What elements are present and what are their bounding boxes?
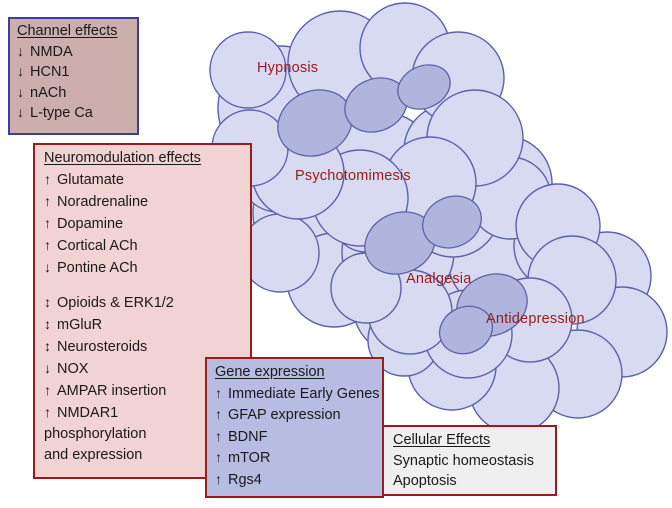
arrow-down-icon: ↓ bbox=[17, 105, 30, 119]
diagram-canvas: Hypnosis Psychotomimesis Analgesia Antid… bbox=[0, 0, 672, 508]
cloud-label-hypnosis: Hypnosis bbox=[257, 60, 318, 76]
arrow-up-icon: ↑ bbox=[215, 450, 228, 464]
list-item-label: Immediate Early Genes bbox=[228, 387, 380, 402]
arrow-up-icon: ↑ bbox=[44, 216, 57, 230]
list-item-label: Dopamine bbox=[57, 217, 123, 232]
arrow-down-icon: ↓ bbox=[44, 260, 57, 274]
list-item: ↑ Rgs4 bbox=[215, 472, 382, 488]
arrow-updown-icon: ↕ bbox=[44, 339, 57, 353]
list-item-label: mTOR bbox=[228, 451, 270, 466]
list-item: ↕ mGluR bbox=[44, 317, 250, 333]
list-item-label: HCN1 bbox=[30, 65, 69, 80]
list-item: ↓ NMDA bbox=[17, 44, 137, 60]
arrow-up-icon: ↑ bbox=[215, 472, 228, 486]
list-item: ↑ Immediate Early Genes bbox=[215, 386, 382, 402]
list-item-label: Opioids & ERK1/2 bbox=[57, 296, 174, 311]
cloud-label-analgesia: Analgesia bbox=[406, 271, 472, 287]
cloud-label-psychotomimesis: Psychotomimesis bbox=[295, 168, 411, 184]
list-item: ↑ Glutamate bbox=[44, 172, 250, 188]
arrow-updown-icon: ↕ bbox=[44, 317, 57, 331]
list-item-label: BDNF bbox=[228, 430, 267, 445]
list-item-label: Glutamate bbox=[57, 173, 124, 188]
arrow-down-icon: ↓ bbox=[44, 361, 57, 375]
list-item: Apoptosis bbox=[393, 474, 555, 489]
list-item: ↓ L-type Ca bbox=[17, 105, 137, 121]
arrow-up-icon: ↑ bbox=[44, 238, 57, 252]
list-item-label: NOX bbox=[57, 362, 88, 377]
list-item-label: L-type Ca bbox=[30, 106, 93, 121]
neuromodulation-effects-title: Neuromodulation effects bbox=[44, 151, 250, 166]
arrow-down-icon: ↓ bbox=[17, 85, 30, 99]
arrow-up-icon: ↑ bbox=[44, 194, 57, 208]
cellular-effects-box: Cellular Effects Synaptic homeostasis Ap… bbox=[382, 425, 557, 496]
list-item: ↑ BDNF bbox=[215, 429, 382, 445]
list-item: ↓ Pontine ACh bbox=[44, 260, 250, 276]
arrow-up-icon: ↑ bbox=[215, 429, 228, 443]
list-item-label: mGluR bbox=[57, 318, 102, 333]
gene-expression-title: Gene expression bbox=[215, 365, 382, 380]
cloud-label-antidepression: Antidepression bbox=[486, 311, 585, 327]
list-item: ↓ HCN1 bbox=[17, 64, 137, 80]
cellular-effects-title: Cellular Effects bbox=[393, 433, 555, 448]
list-item: ↕ Opioids & ERK1/2 bbox=[44, 295, 250, 311]
list-item-label: Noradrenaline bbox=[57, 195, 148, 210]
list-item-label: AMPAR insertion bbox=[57, 384, 166, 399]
list-item-label: GFAP expression bbox=[228, 408, 341, 423]
arrow-up-icon: ↑ bbox=[44, 172, 57, 186]
list-item: ↓ nACh bbox=[17, 85, 137, 101]
arrow-up-icon: ↑ bbox=[215, 386, 228, 400]
arrow-up-icon: ↑ bbox=[215, 407, 228, 421]
channel-effects-title: Channel effects bbox=[17, 24, 137, 39]
list-item: ↕ Neurosteroids bbox=[44, 339, 250, 355]
list-item-label: NMDA bbox=[30, 45, 73, 60]
channel-effects-box: Channel effects ↓ NMDA ↓ HCN1 ↓ nACh ↓ L… bbox=[8, 17, 139, 135]
list-item-label: Cortical ACh bbox=[57, 239, 138, 254]
list-item: ↑ GFAP expression bbox=[215, 407, 382, 423]
list-item: ↑ Dopamine bbox=[44, 216, 250, 232]
list-item-label: nACh bbox=[30, 86, 66, 101]
arrow-up-icon: ↑ bbox=[44, 405, 57, 419]
arrow-down-icon: ↓ bbox=[17, 64, 30, 78]
gene-expression-box: Gene expression ↑ Immediate Early Genes … bbox=[205, 357, 384, 498]
list-group-separator bbox=[44, 282, 250, 295]
list-item: ↑ Noradrenaline bbox=[44, 194, 250, 210]
list-item-label: Neurosteroids bbox=[57, 340, 147, 355]
list-item: ↑ mTOR bbox=[215, 450, 382, 466]
arrow-up-icon: ↑ bbox=[44, 383, 57, 397]
list-item-label: Rgs4 bbox=[228, 473, 262, 488]
list-item: ↑ Cortical ACh bbox=[44, 238, 250, 254]
list-item-label: Pontine ACh bbox=[57, 261, 138, 276]
list-item: Synaptic homeostasis bbox=[393, 454, 555, 469]
list-item-label: NMDAR1 bbox=[57, 406, 118, 421]
arrow-updown-icon: ↕ bbox=[44, 295, 57, 309]
arrow-down-icon: ↓ bbox=[17, 44, 30, 58]
